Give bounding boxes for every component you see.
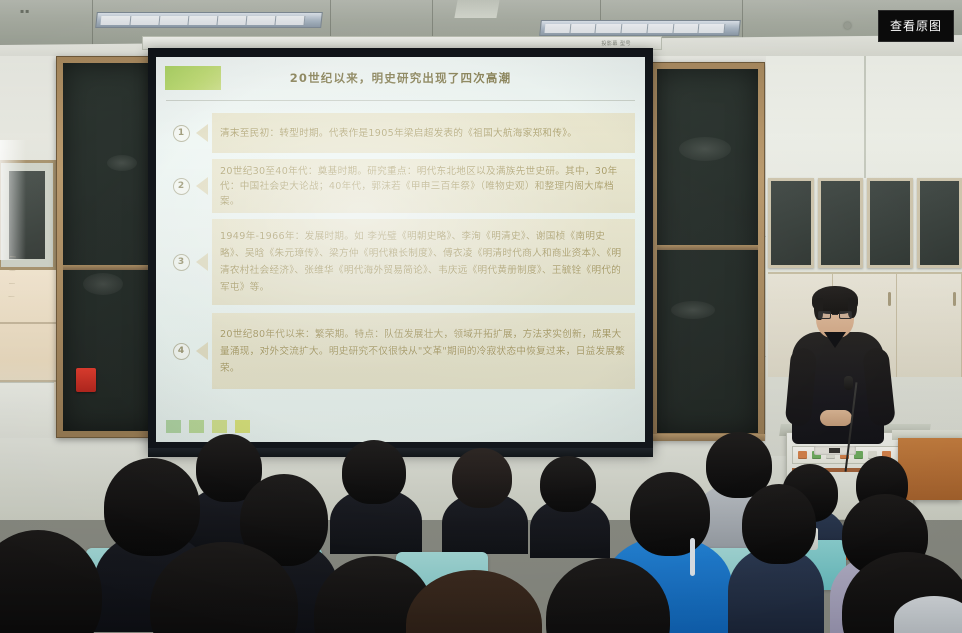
audience-area bbox=[0, 420, 962, 633]
presentation-slide: 20世纪以来，明史研究出现了四次高潮 1 清末至民初：转型时期。代表作是1905… bbox=[156, 57, 645, 442]
student-head bbox=[452, 448, 512, 508]
cabinet-window bbox=[917, 178, 962, 268]
left-wall-notice-text: ︱ ︱ ︱ ︱ bbox=[8, 251, 18, 300]
window-pane bbox=[9, 171, 45, 259]
bullet-number-badge: 3 bbox=[166, 219, 196, 305]
student-head bbox=[630, 472, 710, 556]
bullet-number-badge: 2 bbox=[166, 159, 196, 213]
blackboard-left bbox=[56, 56, 162, 438]
smoke-detector-icon bbox=[844, 22, 851, 29]
student-head bbox=[342, 440, 406, 504]
view-original-button[interactable]: 查看原图 bbox=[878, 10, 954, 42]
bullet-text: 1949年-1966年：发展时期。如 李光璧《明朝史略》、李洵《明清史》、谢国桢… bbox=[212, 219, 635, 305]
ceiling-mark-label: ▪▪ bbox=[20, 8, 30, 15]
bullet-arrow-icon bbox=[196, 313, 212, 389]
student-head bbox=[742, 484, 816, 564]
bullet-number: 3 bbox=[173, 254, 190, 271]
bullet-number-badge: 4 bbox=[166, 313, 196, 389]
cabinet-window-group bbox=[768, 178, 962, 268]
cabinet-window bbox=[768, 178, 814, 268]
blackboard-right bbox=[650, 62, 765, 440]
blackboard-divider bbox=[657, 245, 758, 250]
cabinet-window bbox=[818, 178, 864, 268]
glasses-icon bbox=[818, 310, 852, 319]
slide-bullet-item: 1 清末至民初：转型时期。代表作是1905年梁启超发表的《祖国大航海家郑和传》。 bbox=[166, 113, 635, 153]
screen-housing-label: 投影幕 型号 bbox=[601, 40, 631, 47]
ceiling-light-fixture bbox=[95, 12, 323, 28]
slide-bullet-item: 4 20世纪80年代以来：繁荣期。特点：队伍发展壮大，领域开拓扩展，方法求实创新… bbox=[166, 313, 635, 389]
slide-bullet-list: 1 清末至民初：转型时期。代表作是1905年梁启超发表的《祖国大航海家郑和传》。… bbox=[166, 107, 635, 402]
bullet-text: 20世纪80年代以来：繁荣期。特点：队伍发展壮大，领域开拓扩展，方法求实创新，成… bbox=[212, 313, 635, 389]
microphone-icon bbox=[844, 376, 853, 390]
bullet-arrow-icon bbox=[196, 113, 212, 153]
projection-surface: 20世纪以来，明史研究出现了四次高潮 1 清末至民初：转型时期。代表作是1905… bbox=[156, 57, 645, 442]
bullet-number: 1 bbox=[173, 125, 190, 142]
cabinet-door[interactable] bbox=[897, 274, 962, 377]
ceiling-vent bbox=[454, 0, 499, 18]
classroom-photo: ▪▪ 投影机 编号 ︱ ︱ ︱ ︱ bbox=[0, 0, 962, 633]
ceiling-seam bbox=[92, 0, 93, 48]
slide-bullet-item: 3 1949年-1966年：发展时期。如 李光璧《明朝史略》、李洵《明清史》、谢… bbox=[166, 219, 635, 305]
projection-screen: 20世纪以来，明史研究出现了四次高潮 1 清末至民初：转型时期。代表作是1905… bbox=[148, 48, 653, 452]
jacket-drawstring bbox=[690, 538, 695, 576]
slide-divider bbox=[166, 100, 635, 101]
left-window bbox=[0, 160, 56, 270]
student-head bbox=[540, 456, 596, 512]
blackboard-surface bbox=[657, 69, 758, 433]
bullet-text: 20世纪30至40年代：奠基时期。研究重点：明代东北地区以及满族先世史研。其中，… bbox=[212, 159, 635, 213]
student-head bbox=[104, 458, 200, 556]
slide-bullet-item: 2 20世纪30至40年代：奠基时期。研究重点：明代东北地区以及满族先世史研。其… bbox=[166, 159, 635, 213]
bullet-arrow-icon bbox=[196, 219, 212, 305]
bullet-number: 4 bbox=[173, 343, 190, 360]
cabinet-window bbox=[867, 178, 913, 268]
slide-title: 20世纪以来，明史研究出现了四次高潮 bbox=[156, 70, 645, 86]
student-head bbox=[0, 530, 102, 633]
bullet-text: 清末至民初：转型时期。代表作是1905年梁启超发表的《祖国大航海家郑和传》。 bbox=[212, 113, 635, 153]
board-eraser-icon bbox=[76, 368, 96, 392]
bullet-number-badge: 1 bbox=[166, 113, 196, 153]
bullet-arrow-icon bbox=[196, 159, 212, 213]
ceiling-light-fixture bbox=[539, 20, 741, 36]
bullet-number: 2 bbox=[173, 178, 190, 195]
wall-seam bbox=[864, 56, 866, 178]
blackboard-divider bbox=[63, 265, 155, 270]
